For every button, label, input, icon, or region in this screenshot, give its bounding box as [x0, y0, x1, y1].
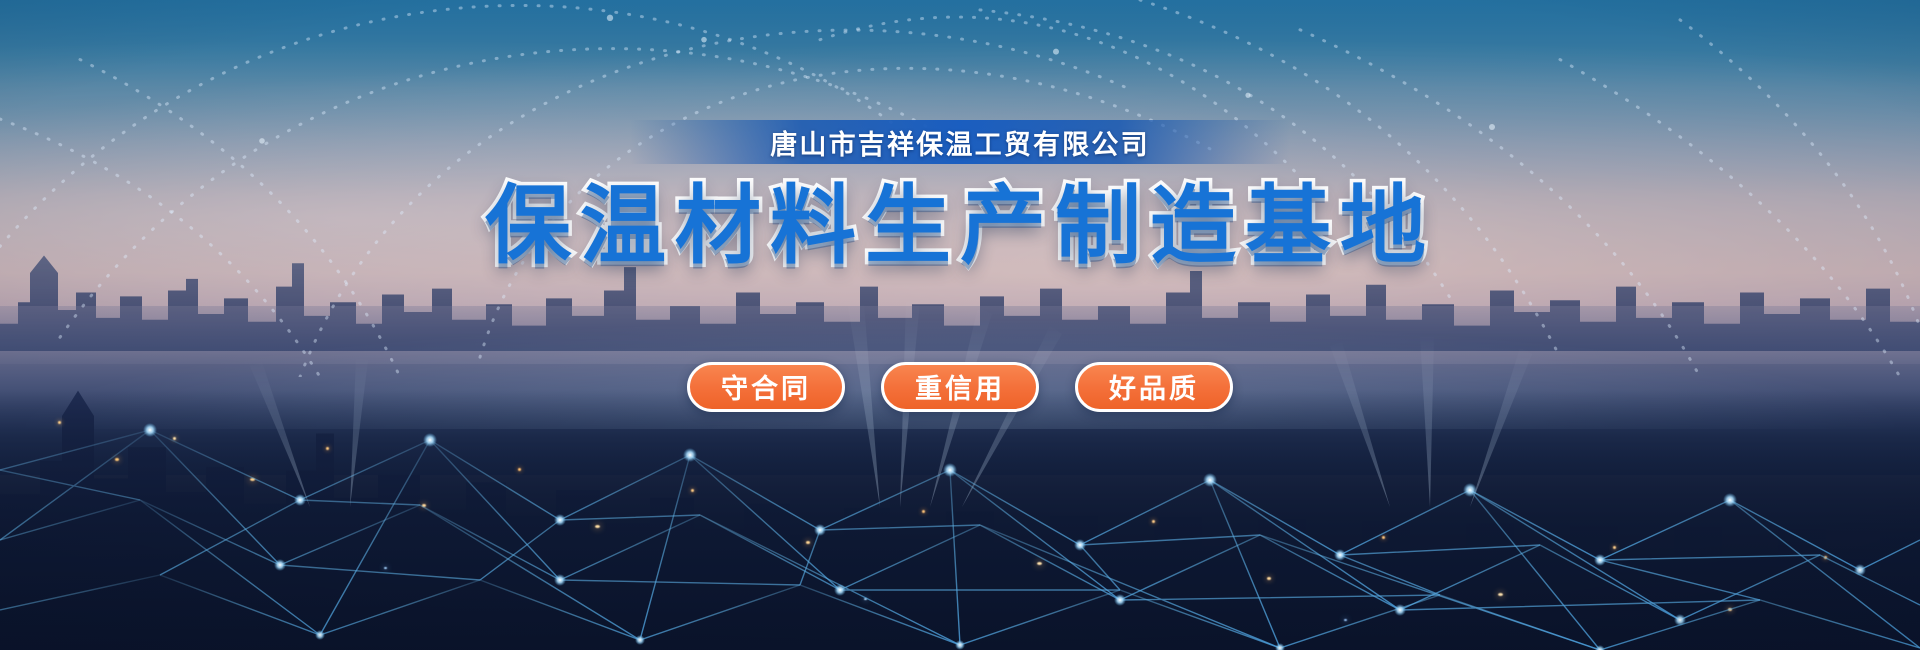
- badge-contract[interactable]: 守合同: [687, 362, 845, 412]
- badge-label: 重信用: [915, 367, 1005, 406]
- badge-quality[interactable]: 好品质: [1075, 362, 1233, 412]
- badge-credit[interactable]: 重信用: [881, 362, 1039, 412]
- company-name-band: 唐山市吉祥保温工贸有限公司: [630, 120, 1290, 164]
- feature-badges: 守合同 重信用 好品质: [687, 362, 1233, 412]
- company-name: 唐山市吉祥保温工贸有限公司: [770, 123, 1150, 162]
- banner-content: 唐山市吉祥保温工贸有限公司 保温材料生产制造基地 守合同 重信用 好品质: [0, 0, 1920, 650]
- page-title: 保温材料生产制造基地: [485, 178, 1435, 274]
- badge-label: 好品质: [1109, 367, 1199, 406]
- hero-banner: 唐山市吉祥保温工贸有限公司 保温材料生产制造基地 守合同 重信用 好品质: [0, 0, 1920, 650]
- badge-label: 守合同: [721, 367, 811, 406]
